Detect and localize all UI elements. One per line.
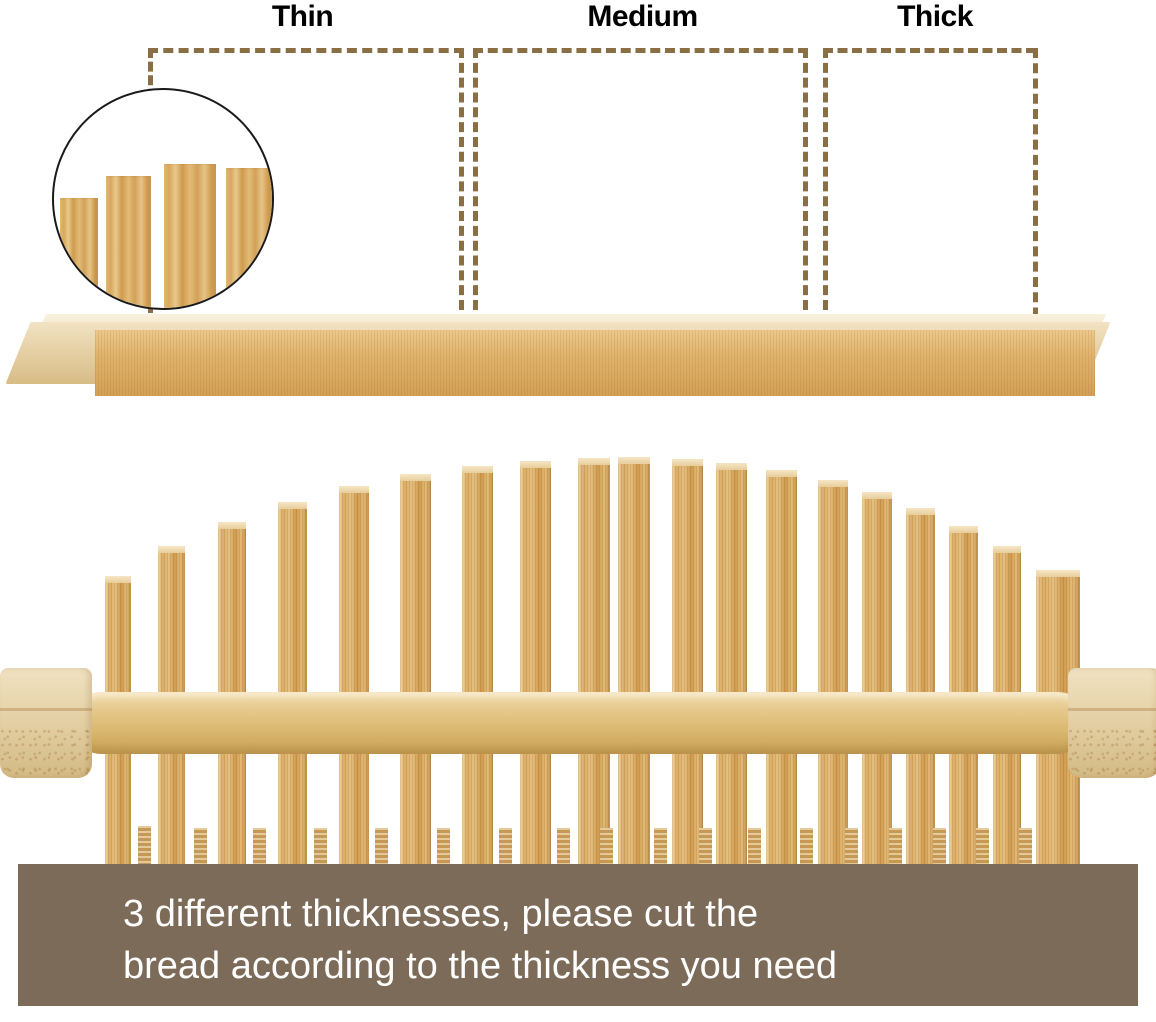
thickness-label-medium: Medium — [555, 0, 730, 34]
bracket-medium-left — [473, 48, 478, 310]
caption-line-1: 3 different thicknesses, please cut the — [123, 888, 1138, 940]
foot-left — [0, 668, 92, 778]
thickness-label-thin: Thin — [230, 0, 375, 34]
bracket-thick-left — [823, 48, 828, 310]
magnifier-circle — [52, 88, 274, 310]
magnifier-slat — [226, 168, 272, 310]
comb-body — [95, 330, 1095, 396]
bracket-medium-top — [473, 48, 808, 53]
bracket-thick-right — [1033, 48, 1038, 348]
thickness-label-thick: Thick — [855, 0, 1015, 34]
magnifier-slat — [106, 176, 151, 310]
base-rail — [72, 692, 1087, 754]
bracket-thin-top — [148, 48, 464, 53]
bracket-thick-top — [823, 48, 1036, 53]
caption-bar: 3 different thicknesses, please cut the … — [18, 864, 1138, 1006]
magnifier-slat — [164, 164, 216, 310]
infographic-stage: Thin Medium Thick — [0, 0, 1156, 1022]
bracket-thin-right — [459, 48, 464, 310]
bracket-medium-right — [803, 48, 808, 310]
magnifier-slat — [60, 198, 98, 310]
caption-line-2: bread according to the thickness you nee… — [123, 940, 1138, 992]
foot-right — [1068, 668, 1156, 778]
